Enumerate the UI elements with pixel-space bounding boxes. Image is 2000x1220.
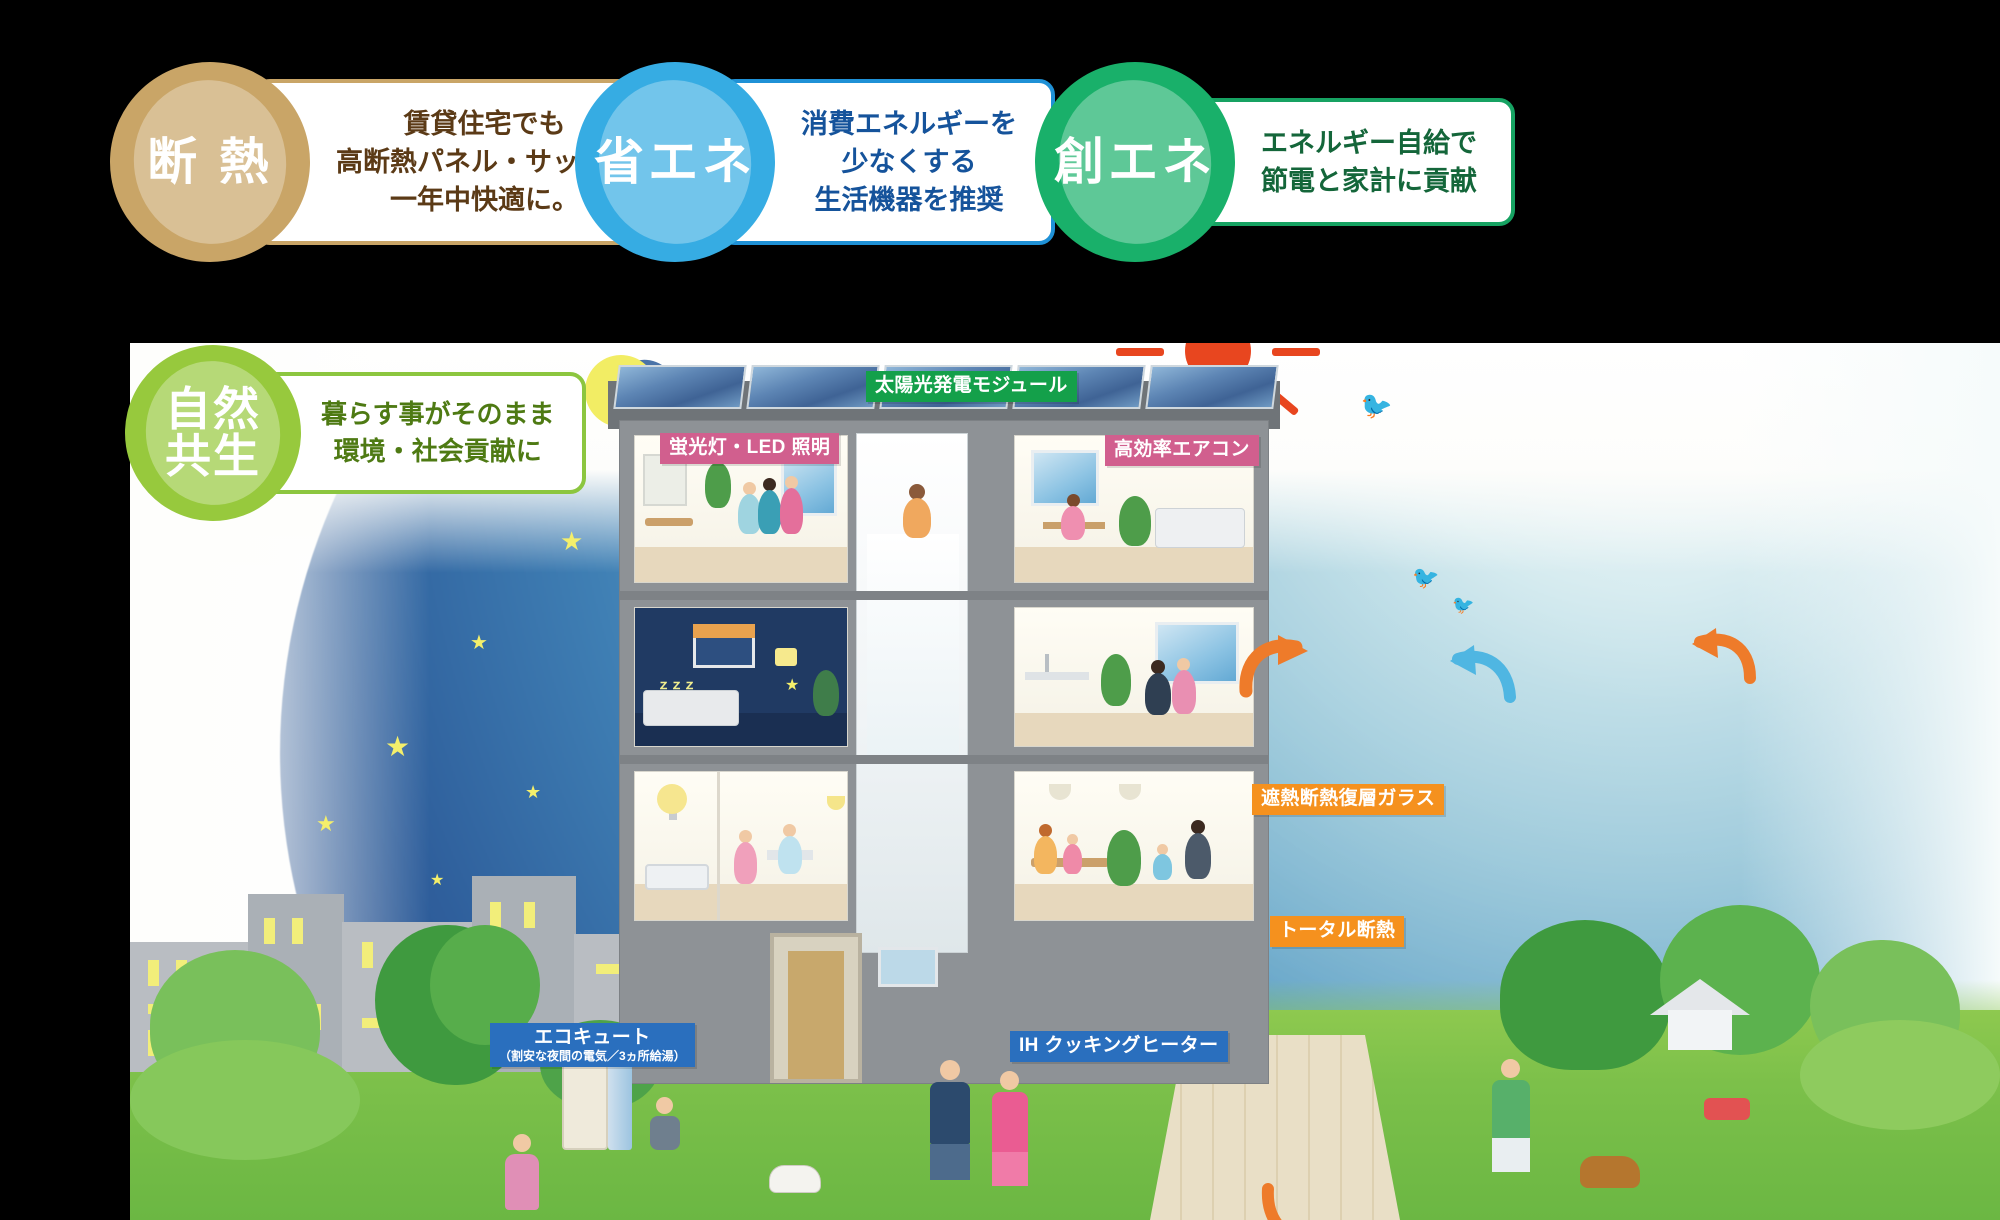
- person-body: [1145, 673, 1171, 715]
- person-body: [1063, 844, 1082, 874]
- room-bath-left: [634, 771, 848, 921]
- star-icon: ★: [785, 678, 799, 694]
- stair-atrium-core: [856, 433, 968, 953]
- callout-shoene[interactable]: 省エネ 消費エネルギーを 少なくする 生活機器を推奨: [575, 62, 1055, 262]
- bed: [1155, 508, 1245, 548]
- apartment-cutaway: ｚｚｚ ★: [620, 421, 1268, 1083]
- tag-eco-cute-sub: （割安な夜間の電気／3ヵ所給湯）: [499, 1050, 686, 1064]
- tag-led-lighting[interactable]: 蛍光灯・LED 照明: [660, 433, 839, 464]
- person-body: [1185, 833, 1211, 879]
- person-body: [903, 498, 931, 538]
- faucet-icon: [1045, 654, 1049, 672]
- sleep-zzz: ｚｚｚ: [657, 674, 696, 693]
- houseplant: [1101, 654, 1131, 706]
- person-head: [1191, 820, 1205, 834]
- cool-airflow-arrow: [1448, 643, 1518, 712]
- building-entrance: [770, 933, 862, 1083]
- person-body: [734, 842, 757, 884]
- wall-lamp: [775, 648, 797, 666]
- badge-souene[interactable]: 創エネ: [1021, 48, 1250, 277]
- tag-solar-module[interactable]: 太陽光発電モジュール: [866, 371, 1077, 402]
- houseplant: [1119, 496, 1151, 546]
- star-icon: ★: [470, 633, 488, 653]
- person-body: [780, 488, 803, 534]
- tag-ih-cooker[interactable]: IH クッキングヒーター: [1010, 1031, 1228, 1062]
- houseplant: [813, 670, 839, 716]
- airflow-arrow: [1692, 628, 1756, 693]
- elderly-person: [505, 1134, 539, 1210]
- cyclist: [1704, 1098, 1750, 1120]
- dog-icon: [1580, 1156, 1640, 1188]
- seated-person: [650, 1097, 680, 1150]
- wall-divider: [717, 772, 720, 920]
- pedestrian-man: [930, 1060, 970, 1180]
- blind-shade: [693, 624, 755, 638]
- ground-floor-window: [878, 947, 938, 987]
- eco-cute-unit: [562, 1058, 608, 1150]
- badge-souene-label: 創エネ: [1054, 137, 1216, 188]
- sun-ray: [1272, 348, 1320, 356]
- bird-icon: 🐦: [1452, 595, 1474, 616]
- tag-high-eff-ac[interactable]: 高効率エアコン: [1105, 435, 1259, 466]
- tag-eco-cute-label: エコキュート: [534, 1027, 650, 1048]
- shrub: [1800, 1020, 2000, 1130]
- person-body: [1153, 854, 1172, 880]
- cool-airflow-arrow: [1224, 643, 1284, 704]
- callout-shizen[interactable]: 自然 共生 暮らす事がそのまま 環境・社会貢献に: [125, 345, 586, 521]
- shrub: [130, 1040, 360, 1160]
- badge-shizen[interactable]: 自然 共生: [112, 332, 313, 533]
- house-body: [1668, 1010, 1732, 1050]
- bird-icon: 🐦: [1358, 388, 1395, 424]
- pedestrian-woman: [992, 1071, 1028, 1186]
- houseplant: [705, 462, 731, 508]
- solar-panel: [1145, 365, 1278, 409]
- bed: [643, 690, 739, 726]
- tag-low-e-glass[interactable]: 遮熱断熱復層ガラス: [1252, 784, 1444, 815]
- room-kitchen-right: [1014, 607, 1254, 747]
- entrance-door: [788, 951, 844, 1079]
- callout-souene[interactable]: 創エネ エネルギー自給で 節電と家計に貢献: [1035, 62, 1515, 262]
- tag-total-insulation[interactable]: トータル断熱: [1270, 916, 1404, 947]
- sun-ray: [1116, 348, 1164, 356]
- star-icon: ★: [560, 528, 583, 554]
- solar-panel: [746, 365, 879, 409]
- room-family-right: [1014, 771, 1254, 921]
- dog-walker: [1492, 1059, 1530, 1172]
- houseplant: [1107, 830, 1141, 886]
- person-body: [1172, 670, 1196, 714]
- solar-panel: [613, 365, 746, 409]
- person-body: [778, 836, 802, 874]
- cat-icon: [770, 1166, 820, 1192]
- window: [1031, 450, 1099, 506]
- badge-dannetsu-label: 断 熱: [147, 137, 273, 188]
- person-body: [1034, 836, 1057, 874]
- badge-shizen-label: 自然 共生: [165, 386, 261, 480]
- infographic-stage: ★ ★ ★ ★ ★ ★ ★ ★ 🐦 🐦 🐦: [0, 0, 2000, 1220]
- room-bedroom-night: ｚｚｚ ★: [634, 607, 848, 747]
- insulation-arrow: [1260, 1183, 1320, 1220]
- person-body: [1061, 506, 1085, 540]
- bathtub: [645, 864, 709, 890]
- bird-icon: 🐦: [1412, 565, 1439, 591]
- dining-table: [645, 518, 693, 526]
- tag-eco-cute[interactable]: エコキュート （割安な夜間の電気／3ヵ所給湯）: [490, 1023, 695, 1067]
- sunburst-icon: [657, 784, 687, 814]
- person-body: [758, 490, 781, 534]
- atrium-glow: [867, 534, 959, 764]
- tree: [1500, 920, 1670, 1070]
- person-head: [1151, 660, 1165, 674]
- star-icon: ★: [525, 783, 541, 801]
- star-icon: ★: [385, 733, 410, 761]
- badge-shoene-label: 省エネ: [594, 137, 756, 188]
- sink-counter: [1025, 672, 1089, 680]
